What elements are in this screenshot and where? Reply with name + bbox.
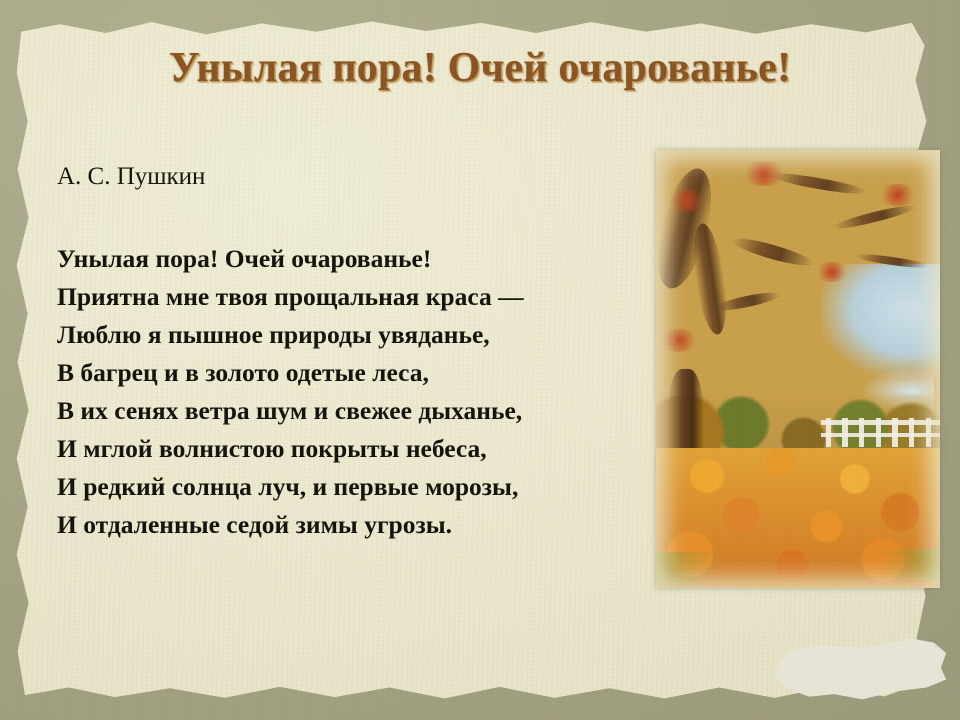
red-leaves xyxy=(815,262,849,282)
photo-content xyxy=(656,150,940,588)
red-leaves xyxy=(667,189,707,211)
red-leaves xyxy=(878,184,918,206)
fence-post xyxy=(892,418,897,447)
tree-branch xyxy=(688,221,732,336)
poem-line: Унылая пора! Очей очарованье! xyxy=(57,240,647,278)
red-leaves xyxy=(741,161,786,186)
page-title: Унылая пора! Очей очарованье! xyxy=(0,44,960,92)
poem-line: В багрец и в золото одетые леса, xyxy=(57,354,647,392)
autumn-forest-path-photo xyxy=(656,150,940,588)
fence-post xyxy=(926,418,931,447)
fence-post xyxy=(909,418,914,447)
path-grass-right xyxy=(883,549,940,580)
poem-line: И редкий солнца луч, и первые морозы, xyxy=(57,468,647,506)
fence-post xyxy=(842,418,847,447)
poem-text-block: Унылая пора! Очей очарованье! Приятна мн… xyxy=(57,240,647,544)
white-fence xyxy=(821,417,940,448)
fence-post xyxy=(859,418,864,447)
fence-post xyxy=(876,418,881,447)
tree-branch xyxy=(855,251,929,270)
poem-line: В их сенях ветра шум и свежее дыханье, xyxy=(57,392,647,430)
path-grass-left xyxy=(656,552,718,588)
fence-post xyxy=(826,418,831,447)
slide-canvas: Унылая пора! Очей очарованье! А. С. Пушк… xyxy=(0,0,960,720)
author-name: А. С. Пушкин xyxy=(57,163,205,191)
red-leaves xyxy=(659,329,699,351)
poem-line: И мглой волнистою покрыты небеса, xyxy=(57,430,647,468)
poem-line: Приятна мне твоя прощальная краса — xyxy=(57,278,647,316)
poem-line: И отдаленные седой зимы угрозы. xyxy=(57,506,647,544)
leaf-covered-path xyxy=(656,448,940,588)
tree-branch xyxy=(832,201,917,231)
tree-branch xyxy=(730,234,816,271)
poem-line: Люблю я пышное природы увяданье, xyxy=(57,316,647,354)
